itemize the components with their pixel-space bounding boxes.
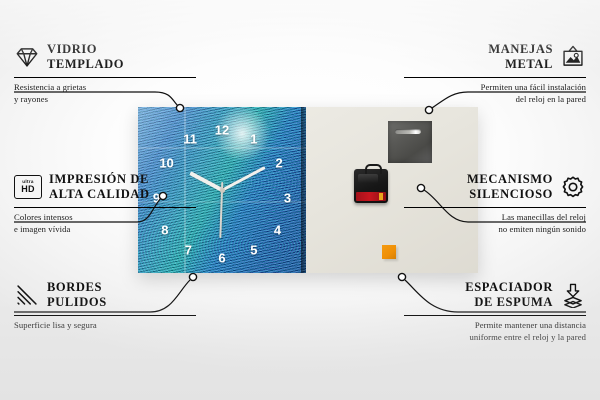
feature-title-line2: ALTA CALIDAD: [49, 187, 150, 202]
feature-polished-edges: BORDES PULIDOS Superficie lisa y segura: [14, 280, 196, 332]
metal-hanger-plate: [388, 121, 432, 163]
feature-tempered-glass: VIDRIO TEMPLADO Resistencia a grietas y …: [14, 42, 196, 106]
feature-title: ESPACIADOR DE ESPUMA: [465, 280, 553, 311]
feature-desc-line1: Colores intensos: [14, 212, 196, 224]
feature-divider: [404, 77, 586, 78]
feature-high-quality-print: ultra HD IMPRESIÓN DE ALTA CALIDAD Color…: [14, 172, 196, 236]
clock-mechanism-box: [354, 169, 388, 203]
feature-title-line1: BORDES: [47, 280, 107, 295]
feature-description: Permite mantener una distancia uniforme …: [404, 320, 586, 344]
mechanism-red-label: [356, 192, 386, 201]
feature-title: IMPRESIÓN DE ALTA CALIDAD: [49, 172, 150, 203]
feature-divider: [404, 315, 586, 316]
foam-spacer-square: [382, 245, 396, 259]
ultra-hd-icon: ultra HD: [14, 175, 42, 199]
mechanism-label-mark: [379, 193, 383, 200]
mechanism-highlight: [358, 174, 378, 183]
feature-title-line2: TEMPLADO: [47, 57, 124, 72]
feature-title: BORDES PULIDOS: [47, 280, 107, 311]
mechanism-hanging-loop: [365, 164, 382, 174]
foam-spacer-arrow-icon: [560, 282, 586, 308]
feature-title-line2: PULIDOS: [47, 295, 107, 310]
feature-title-line1: IMPRESIÓN DE: [49, 172, 150, 187]
feature-metal-hooks: MANEJAS METAL Permiten una fácil instala…: [404, 42, 586, 106]
feature-desc-line2: no emiten ningún sonido: [404, 224, 586, 236]
feature-silent-movement: MECANISMO SILENCIOSO Las manecillas del …: [404, 172, 586, 236]
feature-title-line2: DE ESPUMA: [465, 295, 553, 310]
feature-head: MECANISMO SILENCIOSO: [404, 172, 586, 203]
feature-title-line1: MECANISMO: [467, 172, 553, 187]
feature-description: Permiten una fácil instalación del reloj…: [404, 82, 586, 106]
feature-desc-line1: Resistencia a grietas: [14, 82, 196, 94]
picture-hanger-icon: [560, 44, 586, 70]
feature-title-line1: ESPACIADOR: [465, 280, 553, 295]
feature-desc-line1: Las manecillas del reloj: [404, 212, 586, 224]
feature-head: MANEJAS METAL: [404, 42, 586, 73]
feature-title-line2: SILENCIOSO: [467, 187, 553, 202]
feature-title: MANEJAS METAL: [488, 42, 553, 73]
feature-desc-line2: e imagen vívida: [14, 224, 196, 236]
feature-title-line1: MANEJAS: [488, 42, 553, 57]
feature-head: ultra HD IMPRESIÓN DE ALTA CALIDAD: [14, 172, 196, 203]
feature-desc-line1: Permiten una fácil instalación: [404, 82, 586, 94]
feature-divider: [404, 207, 586, 208]
feature-description: Las manecillas del reloj no emiten ningú…: [404, 212, 586, 236]
feature-title-line1: VIDRIO: [47, 42, 124, 57]
feature-title: MECANISMO SILENCIOSO: [467, 172, 553, 203]
feature-title-line2: METAL: [488, 57, 553, 72]
diamond-icon: [14, 44, 40, 70]
feature-divider: [14, 77, 196, 78]
feature-desc-line2: y rayones: [14, 94, 196, 106]
infographic-canvas: 12 1 2 3 4 5 6 7 8 9 10 11: [0, 0, 600, 400]
polished-edges-icon: [14, 282, 40, 308]
feature-foam-spacer: ESPACIADOR DE ESPUMA Permite mantener un…: [404, 280, 586, 344]
feature-divider: [14, 207, 196, 208]
feature-divider: [14, 315, 196, 316]
hanger-keyhole-slot: [395, 129, 421, 134]
feature-description: Resistencia a grietas y rayones: [14, 82, 196, 106]
feature-description: Colores intensos e imagen vívida: [14, 212, 196, 236]
feature-desc-line1: Superficie lisa y segura: [14, 320, 196, 332]
feature-head: BORDES PULIDOS: [14, 280, 196, 311]
feature-head: VIDRIO TEMPLADO: [14, 42, 196, 73]
feature-head: ESPACIADOR DE ESPUMA: [404, 280, 586, 311]
feature-description: Superficie lisa y segura: [14, 320, 196, 332]
feature-title: VIDRIO TEMPLADO: [47, 42, 124, 73]
ultra-hd-large-label: HD: [21, 185, 34, 194]
feature-desc-line2: uniforme entre el reloj y la pared: [404, 332, 586, 344]
feature-desc-line1: Permite mantener una distancia: [404, 320, 586, 332]
feature-desc-line2: del reloj en la pared: [404, 94, 586, 106]
gear-icon: [560, 174, 586, 200]
